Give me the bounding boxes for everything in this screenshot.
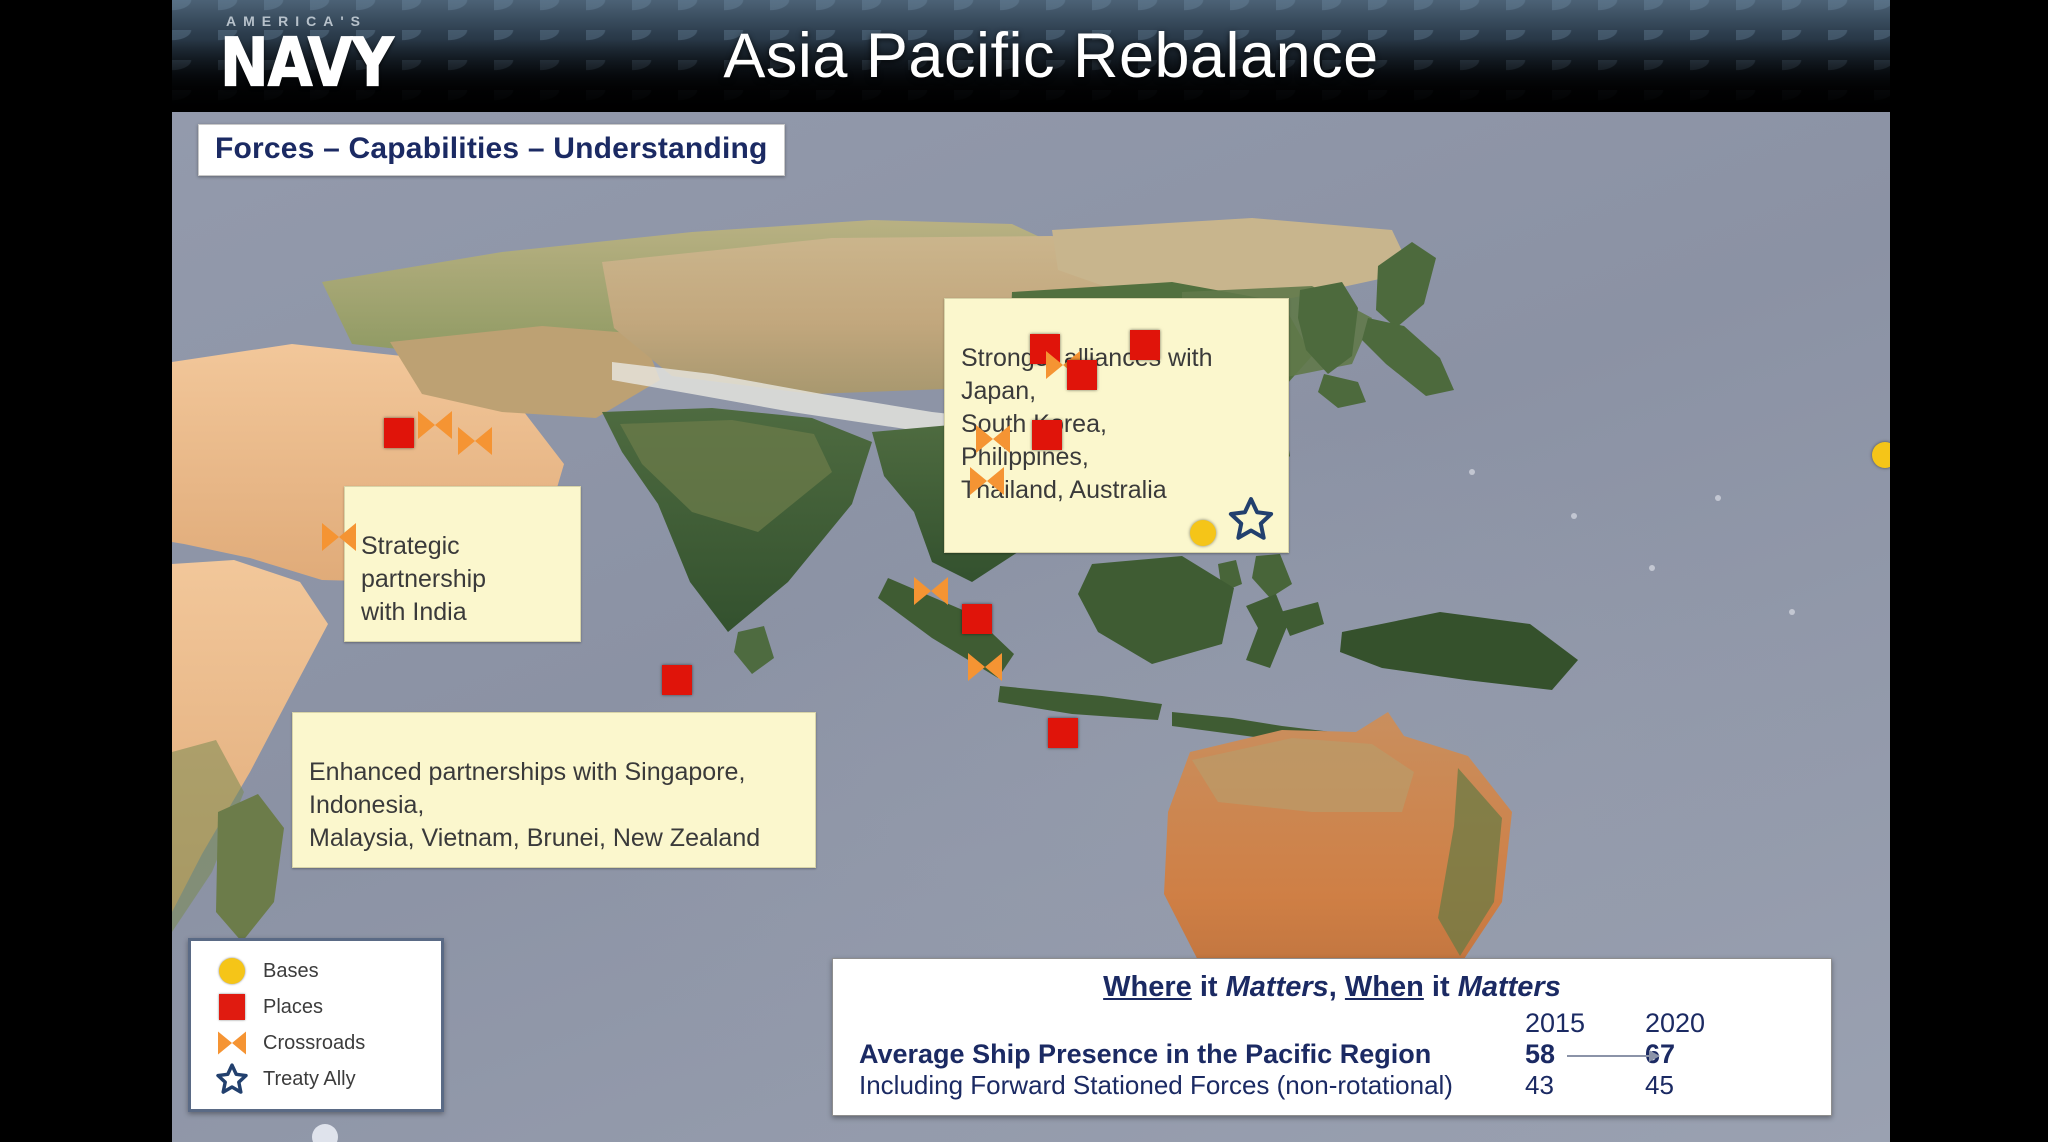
map-marker-crossroads-taiwan-strait [974, 422, 1012, 456]
callout-asean-text: Enhanced partnerships with Singapore, In… [309, 758, 760, 852]
title-comma: , [1329, 971, 1345, 1003]
bases-circle-icon [205, 958, 259, 984]
title-it-1: it [1192, 971, 1226, 1003]
callout-india-text: Strategic partnership with India [361, 532, 486, 626]
title-word-matters-2: Matters [1458, 971, 1561, 1003]
data-panel-title: Where it Matters, When it Matters [859, 971, 1805, 1004]
callout-enhanced-partnerships: Enhanced partnerships with Singapore, In… [292, 712, 816, 868]
legend-label-crossroads: Crossroads [259, 1032, 365, 1055]
map-marker-places-philippine-sea [1032, 420, 1062, 450]
data-row-label-forward-stationed: Including Forward Stationed Forces (non-… [859, 1070, 1525, 1101]
map-marker-crossroads-bab-el-mandeb [320, 520, 358, 554]
data-table: 2015 2020 Average Ship Presence in the P… [859, 1008, 1805, 1101]
map-marker-places-yokosuka [1130, 330, 1160, 360]
asia-pacific-map: Forces – Capabilities – Understanding St… [172, 112, 1890, 1142]
places-square-icon [205, 994, 259, 1020]
legend-label-bases: Bases [259, 960, 319, 983]
title-word-where: Where [1103, 971, 1192, 1003]
legend-row-places: Places [205, 989, 431, 1025]
legend-row-treaty-ally: Treaty Ally [205, 1061, 431, 1097]
data-row-value-ship-presence-2015: 58 [1525, 1039, 1645, 1070]
crossroads-bowtie-icon [205, 1029, 259, 1057]
data-column-header-2020: 2020 [1645, 1008, 1805, 1039]
data-row-value-ship-presence-2020: 67 [1645, 1039, 1805, 1070]
map-marker-places-darwin [1048, 718, 1078, 748]
presentation-slide: AMERICA'S NAVY Asia Pacific Rebalance [172, 0, 1890, 1142]
data-row-value-forward-stationed-2015: 43 [1525, 1070, 1645, 1101]
treaty-ally-star-icon [1228, 496, 1274, 542]
map-marker-crossroads-luzon-strait [968, 464, 1006, 498]
trend-arrow-icon [1567, 1055, 1659, 1057]
title-word-when: When [1345, 971, 1424, 1003]
legend-label-treaty-ally: Treaty Ally [259, 1068, 356, 1091]
map-marker-crossroads-sunda-strait [966, 650, 1004, 684]
map-legend: Bases Places Crossroads [188, 938, 444, 1112]
map-marker-crossroads-gulf-of-oman [456, 424, 494, 458]
logo-navy-text: NAVY [220, 30, 434, 97]
value-2015-ship-presence: 58 [1525, 1039, 1555, 1069]
screenshot-root: AMERICA'S NAVY Asia Pacific Rebalance [0, 0, 2048, 1142]
data-row-label-ship-presence: Average Ship Presence in the Pacific Reg… [859, 1039, 1525, 1070]
map-marker-places-singapore [962, 604, 992, 634]
callout-strategic-partnership-india: Strategic partnership with India [344, 486, 581, 642]
map-marker-crossroads-strait-of-malacca [912, 574, 950, 608]
data-column-header-2015: 2015 [1525, 1008, 1645, 1039]
legend-label-places: Places [259, 996, 323, 1019]
data-summary-panel: Where it Matters, When it Matters 2015 2… [832, 958, 1832, 1116]
map-marker-places-diego-garcia [662, 665, 692, 695]
americas-navy-logo: AMERICA'S NAVY [220, 14, 430, 98]
subtitle-banner: Forces – Capabilities – Understanding [198, 124, 785, 176]
data-row-value-forward-stationed-2020: 45 [1645, 1070, 1805, 1101]
legend-row-bases: Bases [205, 953, 431, 989]
slide-header: AMERICA'S NAVY Asia Pacific Rebalance [172, 0, 1890, 112]
map-marker-crossroads-strait-of-hormuz [416, 408, 454, 442]
treaty-ally-star-icon [205, 1063, 259, 1095]
map-marker-base-guam [1190, 520, 1216, 546]
legend-row-crossroads: Crossroads [205, 1025, 431, 1061]
title-it-2: it [1424, 971, 1458, 1003]
map-marker-places-bahrain [384, 418, 414, 448]
map-marker-places-sasebo [1067, 360, 1097, 390]
title-word-matters-1: Matters [1226, 971, 1329, 1003]
